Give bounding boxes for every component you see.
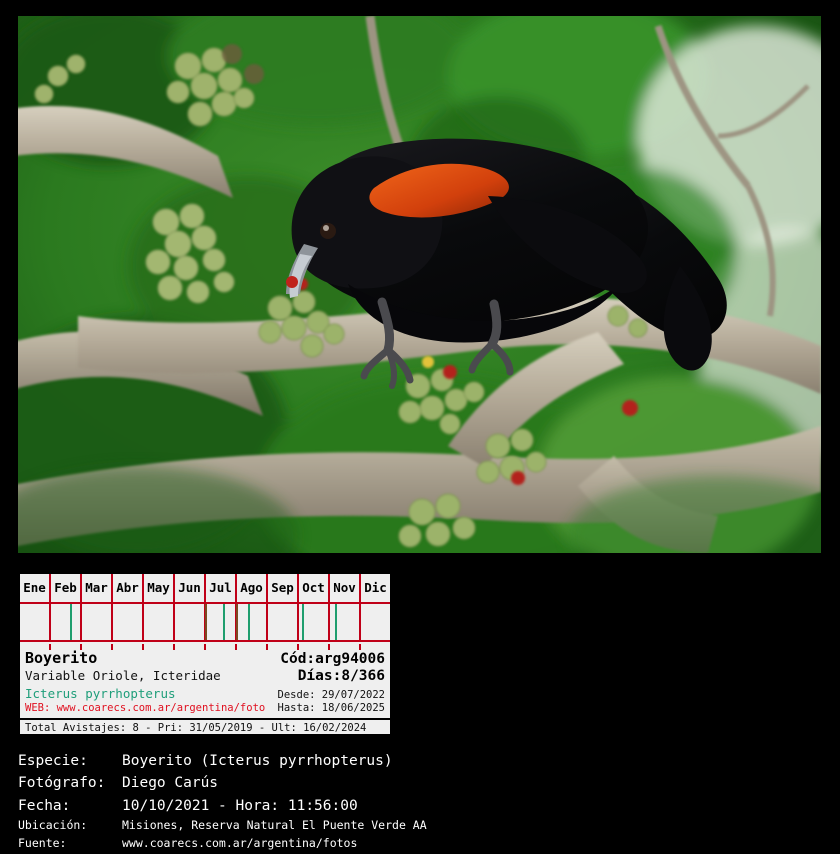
calendar-month-may: May: [144, 574, 175, 602]
calendar-month-sep: Sep: [268, 574, 299, 602]
calendar-month-feb: Feb: [51, 574, 82, 602]
calendar-cell: [82, 604, 113, 640]
species-web-link[interactable]: WEB: www.coarecs.com.ar/argentina/foto: [25, 702, 265, 715]
calendar-tick-green: [248, 604, 250, 640]
calendar-cell: [113, 604, 144, 640]
species-english-family: Variable Oriole, Icteridae: [25, 668, 221, 684]
photo-illustration: [18, 16, 821, 553]
calendar-tick-green: [335, 604, 337, 640]
range-hasta: Hasta: 18/06/2025: [278, 702, 385, 716]
calendar-cell: [206, 604, 237, 640]
calendar-cell: [361, 604, 390, 640]
calendar-month-ago: Ago: [237, 574, 268, 602]
caption-row-fecha: Fecha: 10/10/2021 - Hora: 11:56:00: [18, 795, 818, 817]
caption-label-especie: Especie:: [18, 750, 122, 772]
calendar-cell: [175, 604, 206, 640]
calendar-month-jun: Jun: [175, 574, 206, 602]
caption-row-fuente: Fuente: www.coarecs.com.ar/argentina/fot…: [18, 835, 818, 852]
calendar-cell: [268, 604, 299, 640]
caption-row-especie: Especie: Boyerito (Icterus pyrrhopterus): [18, 750, 818, 772]
bird-photo: [18, 16, 821, 553]
calendar-sighting-track: [20, 604, 390, 642]
caption-row-ubicacion: Ubicación: Misiones, Reserva Natural El …: [18, 817, 818, 834]
calendar-cell: [144, 604, 175, 640]
calendar-month-nov: Nov: [330, 574, 361, 602]
species-calendar-card: Ene Feb Mar Abr May Jun Jul Ago Sep Oct …: [18, 572, 392, 736]
range-desde: Desde: 29/07/2022: [278, 689, 385, 703]
calendar-month-mar: Mar: [82, 574, 113, 602]
caption-row-fotografo: Fotógrafo: Diego Carús: [18, 772, 818, 794]
caption-value-ubicacion: Misiones, Reserva Natural El Puente Verd…: [122, 817, 818, 834]
calendar-tick-green: [302, 604, 304, 640]
calendar-cell: [51, 604, 82, 640]
calendar-month-jul: Jul: [206, 574, 237, 602]
photo-caption: Especie: Boyerito (Icterus pyrrhopterus)…: [18, 750, 818, 852]
sightings-calendar: Ene Feb Mar Abr May Jun Jul Ago Sep Oct …: [20, 574, 390, 646]
calendar-tick-brown: [236, 604, 238, 640]
species-info-block: Boyerito Cód:arg94006 Variable Oriole, I…: [20, 646, 390, 716]
species-code: Cód:arg94006: [280, 651, 385, 668]
calendar-month-dic: Dic: [361, 574, 390, 602]
caption-label-fuente: Fuente:: [18, 835, 122, 852]
calendar-tick-green: [223, 604, 225, 640]
caption-label-ubicacion: Ubicación:: [18, 817, 122, 834]
species-days-count: Días:8/366: [298, 668, 385, 685]
page-root: Ene Feb Mar Abr May Jun Jul Ago Sep Oct …: [0, 0, 840, 854]
calendar-cell: [237, 604, 268, 640]
calendar-tick-green: [70, 604, 72, 640]
caption-value-fotografo: Diego Carús: [122, 772, 818, 794]
species-common-name: Boyerito: [25, 650, 97, 668]
calendar-month-abr: Abr: [113, 574, 144, 602]
species-scientific-name: Icterus pyrrhopterus: [25, 686, 176, 702]
caption-value-especie: Boyerito (Icterus pyrrhopterus): [122, 750, 818, 772]
calendar-month-oct: Oct: [299, 574, 330, 602]
calendar-tick-brown: [205, 604, 207, 640]
calendar-cell: [20, 604, 51, 640]
calendar-month-ene: Ene: [20, 574, 51, 602]
caption-value-fecha: 10/10/2021 - Hora: 11:56:00: [122, 795, 818, 817]
caption-label-fecha: Fecha:: [18, 795, 122, 817]
calendar-month-header: Ene Feb Mar Abr May Jun Jul Ago Sep Oct …: [20, 574, 390, 604]
caption-label-fotografo: Fotógrafo:: [18, 772, 122, 794]
caption-value-fuente[interactable]: www.coarecs.com.ar/argentina/fotos: [122, 835, 818, 852]
total-sightings-bar: Total Avistajes: 8 - Pri: 31/05/2019 - U…: [20, 718, 390, 734]
